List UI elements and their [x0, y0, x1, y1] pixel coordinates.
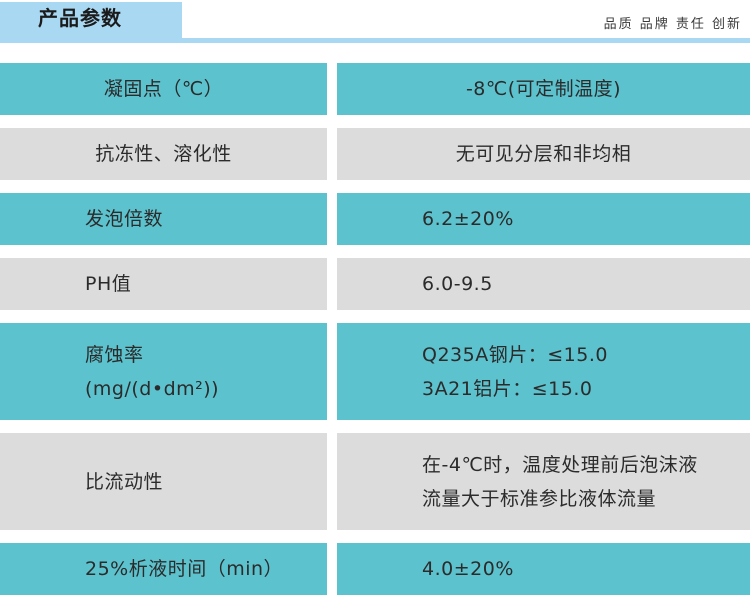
table-row: 发泡倍数6.2±20%: [0, 193, 750, 245]
table-row: 比流动性在-4℃时，温度处理前后泡沫液流量大于标准参比液体流量: [0, 433, 750, 530]
header-divider: [0, 38, 750, 43]
page-header: 产品参数 品质 品牌 责任 创新: [0, 0, 750, 48]
table-row: 凝固点（℃）-8℃(可定制温度): [0, 63, 750, 115]
parameter-value-line: -8℃(可定制温度): [466, 72, 621, 106]
parameter-value-line: 4.0±20%: [422, 552, 750, 586]
table-row: PH值6.0-9.5: [0, 258, 750, 310]
parameter-name-line: 腐蚀率: [85, 338, 327, 372]
parameter-name-line: PH值: [85, 267, 327, 301]
parameter-name-line: 发泡倍数: [85, 202, 327, 236]
parameter-name-cell: PH值: [0, 258, 327, 310]
parameter-value-cell: 4.0±20%: [337, 543, 750, 595]
parameter-value-line: 3A21铝片：≤15.0: [422, 372, 750, 406]
parameter-name-cell: 发泡倍数: [0, 193, 327, 245]
parameter-value-line: Q235A钢片：≤15.0: [422, 338, 750, 372]
parameter-value-line: 无可见分层和非均相: [456, 137, 632, 171]
parameter-value-cell: 在-4℃时，温度处理前后泡沫液流量大于标准参比液体流量: [337, 433, 750, 530]
parameter-name-line: (mg/(d•dm²)): [85, 372, 327, 406]
parameter-value-cell: 无可见分层和非均相: [337, 128, 750, 180]
parameter-value-line: 流量大于标准参比液体流量: [422, 482, 750, 516]
parameter-value-cell: 6.0-9.5: [337, 258, 750, 310]
parameter-name-cell: 凝固点（℃）: [0, 63, 327, 115]
table-row: 腐蚀率(mg/(d•dm²))Q235A钢片：≤15.03A21铝片：≤15.0: [0, 323, 750, 420]
parameter-name-line: 25%析液时间（min）: [85, 552, 327, 586]
parameter-name-line: 比流动性: [85, 465, 327, 499]
parameter-name-line: 凝固点（℃）: [104, 72, 223, 106]
product-parameter-table: 凝固点（℃）-8℃(可定制温度)抗冻性、溶化性无可见分层和非均相发泡倍数6.2±…: [0, 63, 750, 608]
brand-tagline: 品质 品牌 责任 创新: [604, 13, 742, 32]
table-row: 25%析液时间（min）4.0±20%: [0, 543, 750, 595]
parameter-value-cell: -8℃(可定制温度): [337, 63, 750, 115]
parameter-name-line: 抗冻性、溶化性: [95, 137, 232, 171]
parameter-value-line: 6.0-9.5: [422, 267, 750, 301]
page-title: 产品参数: [38, 5, 122, 31]
parameter-value-line: 在-4℃时，温度处理前后泡沫液: [422, 448, 750, 482]
table-row: 抗冻性、溶化性无可见分层和非均相: [0, 128, 750, 180]
parameter-value-cell: Q235A钢片：≤15.03A21铝片：≤15.0: [337, 323, 750, 420]
parameter-name-cell: 25%析液时间（min）: [0, 543, 327, 595]
parameter-name-cell: 比流动性: [0, 433, 327, 530]
parameter-value-line: 6.2±20%: [422, 202, 750, 236]
parameter-value-cell: 6.2±20%: [337, 193, 750, 245]
parameter-name-cell: 抗冻性、溶化性: [0, 128, 327, 180]
parameter-name-cell: 腐蚀率(mg/(d•dm²)): [0, 323, 327, 420]
